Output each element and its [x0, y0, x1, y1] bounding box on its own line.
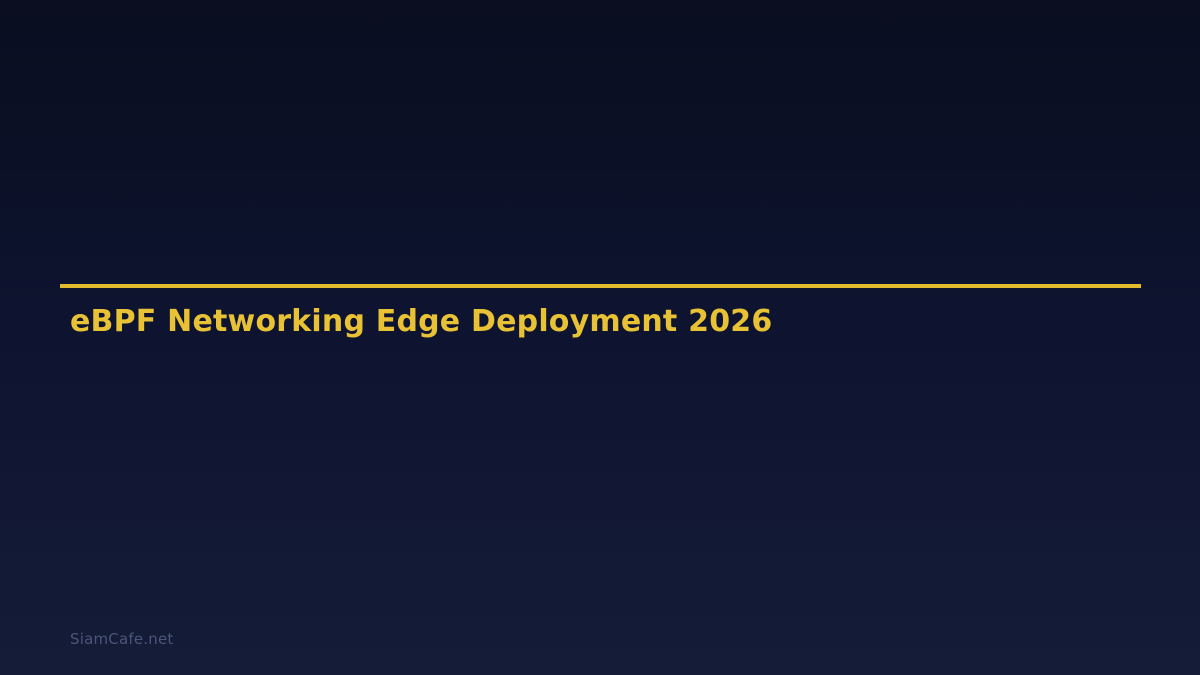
- page-title: eBPF Networking Edge Deployment 2026: [70, 303, 1140, 341]
- watermark-label: SiamCafe.net: [70, 630, 173, 648]
- title-slide: eBPF Networking Edge Deployment 2026 Sia…: [0, 0, 1200, 675]
- title-block: eBPF Networking Edge Deployment 2026: [70, 303, 1140, 341]
- accent-rule-divider: [60, 284, 1141, 288]
